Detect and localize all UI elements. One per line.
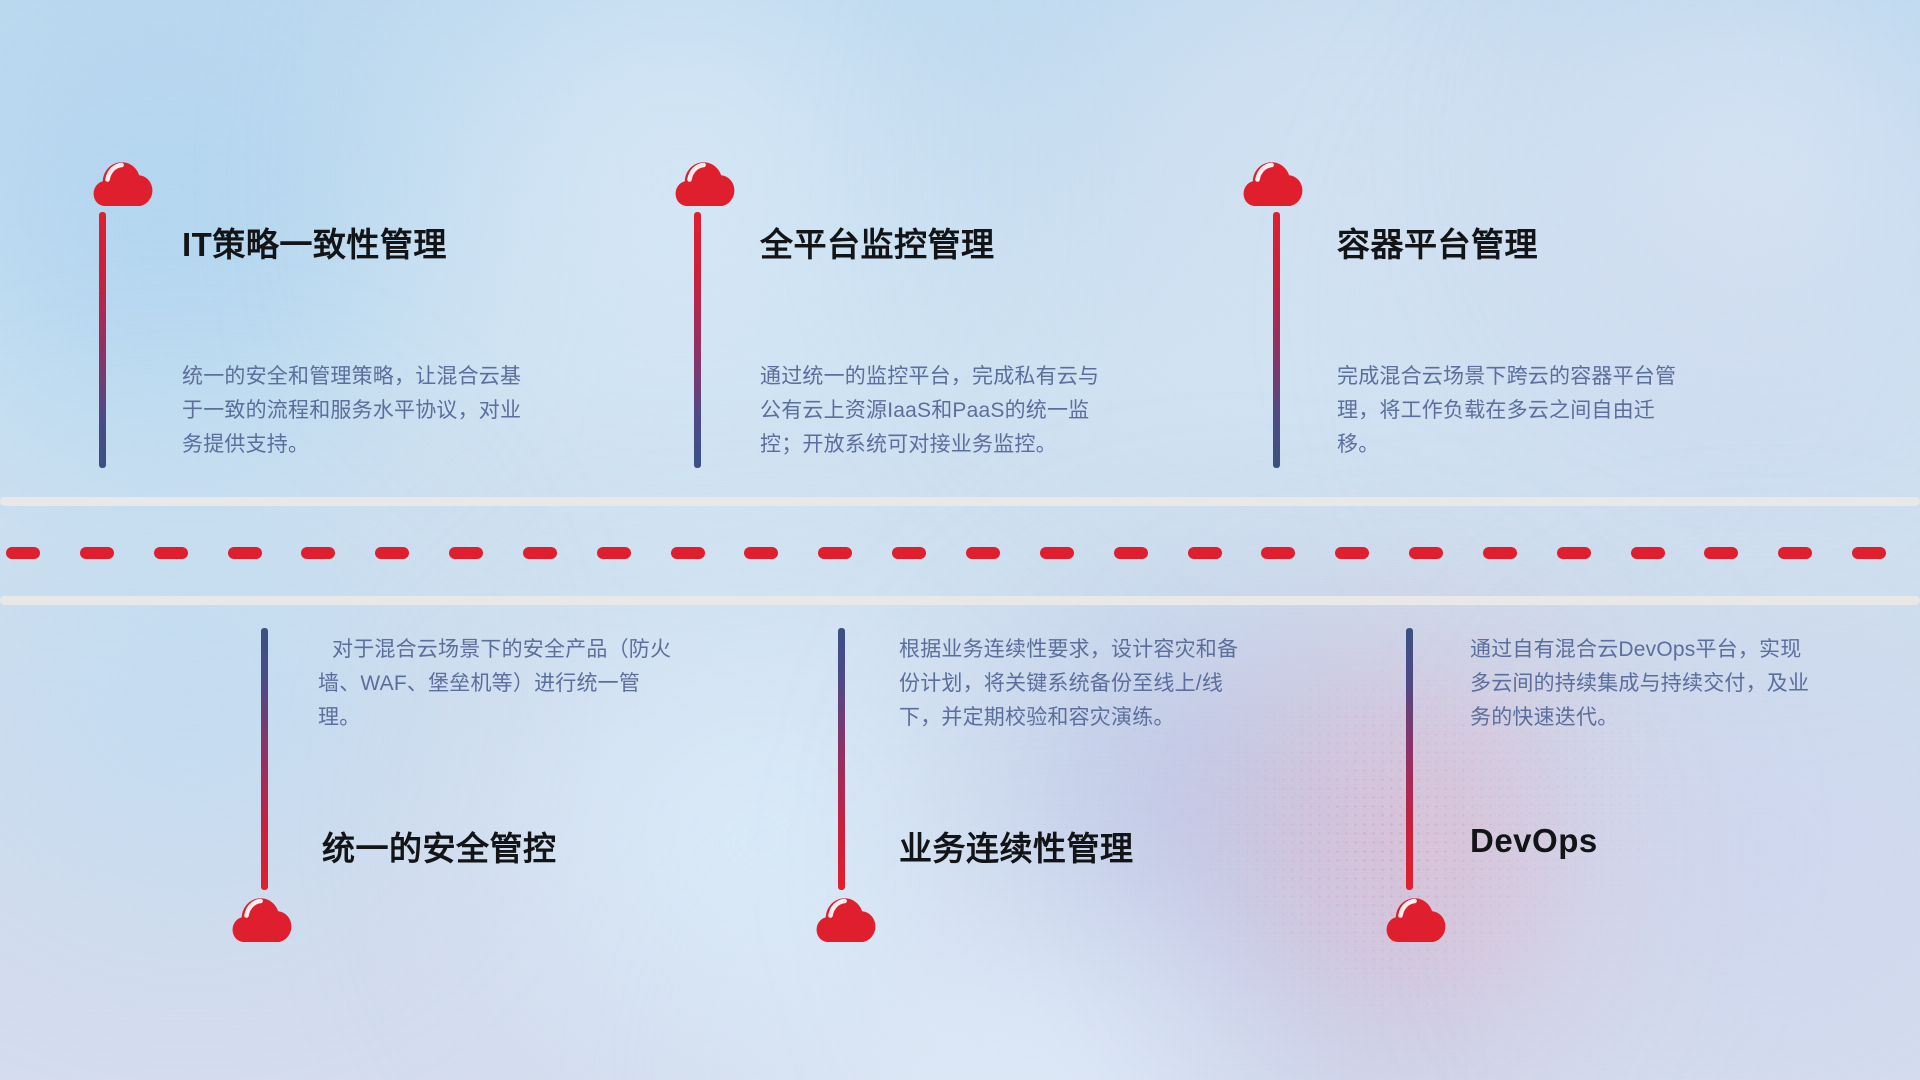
- road-dash: [1852, 547, 1886, 559]
- road-dash: [228, 547, 262, 559]
- road-dash: [80, 547, 114, 559]
- cloud-icon: [232, 893, 292, 943]
- column-title: 业务连续性管理: [899, 822, 1134, 870]
- road-edge-bottom-line: [0, 596, 1920, 605]
- column-title: DevOps: [1470, 822, 1598, 860]
- road-edge-top-line: [0, 497, 1920, 506]
- column-title: IT策略一致性管理: [182, 218, 447, 266]
- road-dash: [1188, 547, 1222, 559]
- road-dash: [1631, 547, 1665, 559]
- cloud-icon: [1243, 157, 1303, 207]
- road-dash: [1778, 547, 1812, 559]
- road-dash: [597, 547, 631, 559]
- road-dash: [1557, 547, 1591, 559]
- road-dash: [1483, 547, 1517, 559]
- cloud-icon: [1386, 893, 1446, 943]
- road-dash: [818, 547, 852, 559]
- road-dash: [892, 547, 926, 559]
- connector-stem: [1406, 628, 1413, 890]
- road-dash: [671, 547, 705, 559]
- column-title: 容器平台管理: [1337, 218, 1538, 266]
- column-description: 通过统一的监控平台，完成私有云与公有云上资源IaaS和PaaS的统一监控；开放系…: [760, 360, 1112, 462]
- cloud-icon: [93, 157, 153, 207]
- column-title: 统一的安全管控: [322, 822, 557, 870]
- road-dash: [154, 547, 188, 559]
- road-dash: [966, 547, 1000, 559]
- road-dash: [1409, 547, 1443, 559]
- road-dash: [6, 547, 40, 559]
- connector-stem: [694, 212, 701, 468]
- road-dash: [1335, 547, 1369, 559]
- road-dash: [744, 547, 778, 559]
- connector-stem: [99, 212, 106, 468]
- road-dash: [301, 547, 335, 559]
- column-description: 完成混合云场景下跨云的容器平台管理，将工作负载在多云之间自由迁移。: [1337, 360, 1689, 462]
- road-dash: [523, 547, 557, 559]
- road-dash: [1261, 547, 1295, 559]
- cloud-icon: [816, 893, 876, 943]
- road-dash: [1704, 547, 1738, 559]
- column-description: 对于混合云场景下的安全产品（防火墙、WAF、堡垒机等）进行统一管理。: [318, 633, 678, 735]
- connector-stem: [838, 628, 845, 890]
- column-description: 根据业务连续性要求，设计容灾和备份计划，将关键系统备份至线上/线下，并定期校验和…: [899, 633, 1251, 735]
- road-dash: [449, 547, 483, 559]
- column-title: 全平台监控管理: [760, 218, 995, 266]
- cloud-icon: [675, 157, 735, 207]
- road-dash: [1040, 547, 1074, 559]
- road-center-dashes: [0, 547, 1920, 559]
- road-dash: [375, 547, 409, 559]
- column-description: 统一的安全和管理策略，让混合云基于一致的流程和服务水平协议，对业务提供支持。: [182, 360, 534, 462]
- road-dash: [1114, 547, 1148, 559]
- connector-stem: [1273, 212, 1280, 468]
- column-description: 通过自有混合云DevOps平台，实现多云间的持续集成与持续交付，及业务的快速迭代…: [1470, 633, 1822, 735]
- connector-stem: [261, 628, 268, 890]
